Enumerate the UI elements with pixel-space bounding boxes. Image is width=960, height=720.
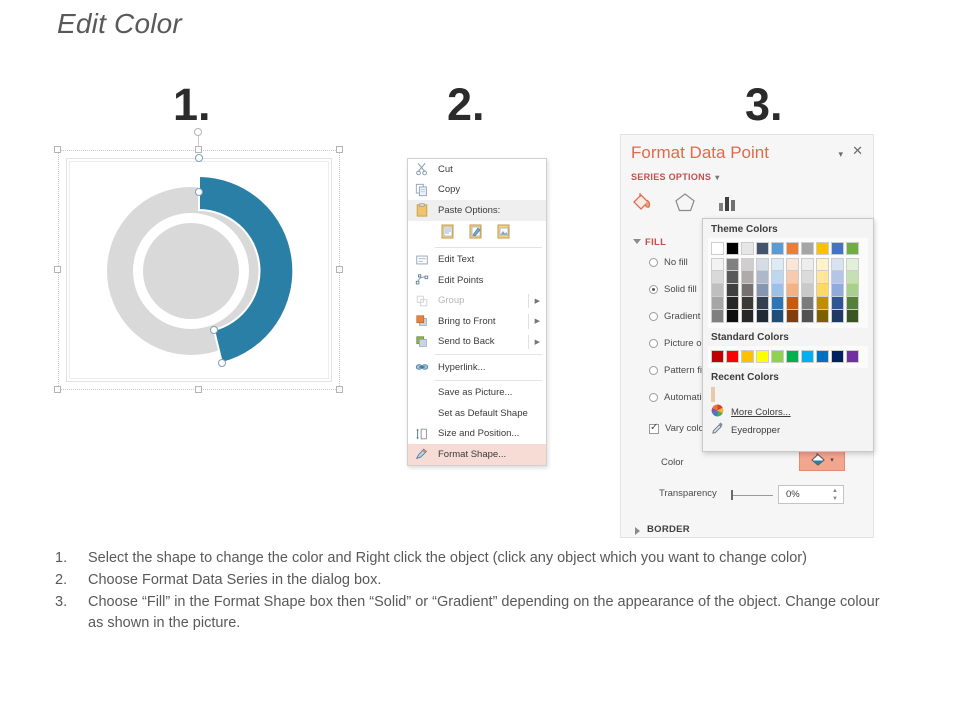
swatch[interactable]	[846, 284, 859, 297]
swatch[interactable]	[831, 310, 844, 323]
swatch-standard-7[interactable]	[816, 350, 829, 363]
swatch[interactable]	[711, 310, 724, 323]
theme-variant-col-1[interactable]	[726, 258, 739, 323]
resize-handle-se[interactable]	[336, 386, 343, 393]
radio-indicator	[649, 339, 658, 348]
radio-indicator	[649, 312, 658, 321]
menu-item-send-to-back[interactable]: Send to Back ▶	[408, 332, 546, 353]
swatch[interactable]	[801, 258, 814, 271]
edit-points-icon	[415, 273, 429, 287]
swatch[interactable]	[756, 284, 769, 297]
menu-item-group[interactable]: Group ▶	[408, 291, 546, 312]
bring-front-icon	[415, 314, 429, 328]
segment-handle-bottom-outer[interactable]	[218, 359, 226, 367]
swatch-standard-3[interactable]	[756, 350, 769, 363]
size-position-icon	[415, 427, 429, 441]
fill-bucket-icon	[810, 451, 828, 470]
submenu-divider	[528, 314, 529, 329]
theme-variant-col-2[interactable]	[741, 258, 754, 323]
swatch[interactable]	[711, 297, 724, 310]
swatch-standard-4[interactable]	[771, 350, 784, 363]
swatch-theme-base-8[interactable]	[831, 242, 844, 255]
menu-item-cut[interactable]: Cut	[408, 159, 546, 180]
swatch[interactable]	[711, 284, 724, 297]
resize-handle-n[interactable]	[195, 146, 202, 153]
theme-variant-col-5[interactable]	[786, 258, 799, 323]
swatch-theme-base-3[interactable]	[756, 242, 769, 255]
swatch[interactable]	[846, 258, 859, 271]
menu-item-save-as-picture[interactable]: Save as Picture...	[408, 383, 546, 404]
menu-item-copy[interactable]: Copy	[408, 180, 546, 201]
theme-variants-grid[interactable]	[711, 258, 865, 323]
instruction-item: 2. Choose Format Data Series in the dial…	[55, 570, 885, 591]
eyedropper-item[interactable]: Eyedropper	[703, 421, 873, 439]
resize-handle-sw[interactable]	[54, 386, 61, 393]
swatch[interactable]	[741, 310, 754, 323]
theme-variant-col-4[interactable]	[771, 258, 784, 323]
transparency-value: 0%	[786, 489, 800, 500]
radio-solid-fill[interactable]: Solid fill	[649, 284, 697, 295]
swatch[interactable]	[846, 271, 859, 284]
swatch[interactable]	[756, 310, 769, 323]
chevron-right-icon: ▶	[535, 338, 540, 346]
eyedropper-icon	[711, 422, 724, 438]
border-section-label: BORDER	[647, 524, 690, 535]
standard-colors-label: Standard Colors	[703, 328, 873, 346]
submenu-divider	[528, 335, 529, 350]
menu-item-label: Edit Points	[438, 275, 483, 286]
menu-item-label: Edit Text	[438, 254, 474, 265]
series-options-label: SERIES OPTIONS	[631, 172, 711, 182]
doughnut-chart[interactable]	[86, 158, 312, 384]
swatch-theme-base-6[interactable]	[801, 242, 814, 255]
swatch[interactable]	[726, 271, 739, 284]
chevron-right-icon: ▶	[535, 297, 540, 305]
edit-text-icon	[415, 253, 429, 267]
step-number-2: 2.	[447, 82, 485, 127]
swatch[interactable]	[816, 310, 829, 323]
more-colors-label: More Colors...	[731, 407, 791, 418]
paste-options-row[interactable]	[408, 221, 546, 245]
pane-title: Format Data Point	[631, 143, 769, 163]
chevron-right-icon: ▶	[535, 317, 540, 325]
swatch[interactable]	[771, 258, 784, 271]
page-title: Edit Color	[57, 8, 182, 40]
paste-picture-icon[interactable]	[496, 223, 512, 240]
theme-variant-col-6[interactable]	[801, 258, 814, 323]
radio-label: Solid fill	[664, 284, 697, 295]
menu-item-hyperlink[interactable]: Hyperlink...	[408, 357, 546, 378]
swatch[interactable]	[816, 297, 829, 310]
instructions-list: 1. Select the shape to change the color …	[55, 548, 885, 635]
swatch[interactable]	[726, 258, 739, 271]
swatch[interactable]	[756, 258, 769, 271]
close-icon[interactable]: ✕	[852, 144, 863, 157]
radio-pattern-fill[interactable]: Pattern fill	[649, 365, 706, 376]
transparency-slider-knob[interactable]	[731, 490, 733, 500]
radio-label: No fill	[664, 257, 688, 268]
swatch[interactable]	[786, 284, 799, 297]
resize-handle-s[interactable]	[195, 386, 202, 393]
swatch-standard-0[interactable]	[711, 350, 724, 363]
fill-color-button[interactable]: ▾	[799, 449, 845, 471]
swatch[interactable]	[726, 284, 739, 297]
swatch-standard-8[interactable]	[831, 350, 844, 363]
instruction-item: 1. Select the shape to change the color …	[55, 548, 885, 569]
transparency-label: Transparency	[659, 488, 717, 499]
theme-variant-col-7[interactable]	[816, 258, 829, 323]
fill-section-expand-icon[interactable]	[633, 239, 641, 244]
menu-separator-2	[435, 354, 542, 355]
chart-inner-disc	[143, 223, 239, 319]
step-number-3: 3.	[745, 82, 783, 127]
menu-item-label: Save as Picture...	[438, 387, 512, 398]
segment-handle-bottom-inner[interactable]	[210, 326, 218, 334]
theme-variant-col-8[interactable]	[831, 258, 844, 323]
rotate-handle[interactable]	[194, 128, 202, 136]
spinner-up-icon[interactable]: ▲	[832, 488, 838, 494]
more-colors-item[interactable]: More Colors...	[703, 403, 873, 421]
swatch[interactable]	[816, 258, 829, 271]
transparency-input[interactable]: 0% ▲ ▼	[778, 485, 844, 504]
swatch[interactable]	[846, 310, 859, 323]
send-back-icon	[415, 335, 429, 349]
paste-keep-formatting-icon[interactable]	[440, 223, 456, 240]
spinner-arrows[interactable]: ▲ ▼	[832, 488, 838, 502]
format-shape-icon	[415, 447, 429, 461]
menu-item-label: Bring to Front	[438, 316, 496, 327]
group-icon	[415, 294, 429, 308]
swatch-theme-base-4[interactable]	[771, 242, 784, 255]
swatch[interactable]	[741, 297, 754, 310]
color-picker-dropdown[interactable]: Theme Colors	[702, 218, 874, 452]
radio-indicator	[649, 366, 658, 375]
resize-handle-e[interactable]	[336, 266, 343, 273]
menu-item-label: Set as Default Shape	[438, 408, 528, 419]
swatch-theme-base-5[interactable]	[786, 242, 799, 255]
swatch[interactable]	[786, 297, 799, 310]
theme-variant-col-3[interactable]	[756, 258, 769, 323]
radio-no-fill[interactable]: No fill	[649, 257, 688, 268]
instruction-number: 1.	[55, 548, 88, 569]
swatch[interactable]	[786, 310, 799, 323]
swatch[interactable]	[816, 271, 829, 284]
radio-indicator	[649, 285, 658, 294]
swatch-theme-base-7[interactable]	[816, 242, 829, 255]
recent-colors-row[interactable]	[703, 386, 873, 403]
swatch-standard-9[interactable]	[846, 350, 859, 363]
swatch[interactable]	[831, 284, 844, 297]
swatch[interactable]	[801, 271, 814, 284]
spinner-down-icon[interactable]: ▼	[832, 496, 838, 502]
radio-indicator	[649, 393, 658, 402]
swatch[interactable]	[726, 297, 739, 310]
instruction-text: Choose Format Data Series in the dialog …	[88, 570, 885, 591]
menu-item-label: Copy	[438, 184, 460, 195]
menu-item-label: Group	[438, 295, 464, 306]
radio-label: Pattern fill	[664, 365, 706, 376]
pentagon-icon[interactable]	[673, 191, 697, 213]
swatch[interactable]	[846, 297, 859, 310]
transparency-slider-track[interactable]	[733, 495, 773, 496]
instruction-text: Select the shape to change the color and…	[88, 548, 885, 569]
menu-item-set-as-default-shape[interactable]: Set as Default Shape	[408, 403, 546, 424]
chart-selection-panel[interactable]	[58, 150, 340, 390]
theme-variant-col-0[interactable]	[711, 258, 724, 323]
swatch[interactable]	[711, 258, 724, 271]
scissors-icon	[415, 162, 429, 176]
swatch[interactable]	[786, 258, 799, 271]
series-options-dropdown[interactable]: SERIES OPTIONS▾	[631, 172, 720, 182]
swatch[interactable]	[831, 271, 844, 284]
paste-icon	[415, 203, 429, 217]
theme-colors-grid[interactable]	[708, 238, 868, 328]
fill-section-label: FILL	[645, 237, 666, 248]
color-label: Color	[661, 457, 684, 468]
menu-item-label: Size and Position...	[438, 428, 519, 439]
menu-item-label: Paste Options:	[438, 205, 500, 216]
menu-item-bring-to-front[interactable]: Bring to Front ▶	[408, 311, 546, 332]
chevron-down-icon: ▾	[715, 173, 719, 182]
swatch[interactable]	[741, 271, 754, 284]
pane-dropdown-caret-icon[interactable]: ▾	[838, 149, 843, 160]
instruction-number: 3.	[55, 592, 88, 634]
menu-item-edit-text[interactable]: Edit Text	[408, 250, 546, 271]
context-menu[interactable]: Cut Copy Paste Options:	[407, 158, 547, 466]
menu-separator-3	[435, 380, 542, 381]
swatch[interactable]	[756, 297, 769, 310]
standard-colors-row[interactable]	[708, 346, 868, 368]
radio-automatic-fill[interactable]: Automatic	[649, 392, 706, 403]
eyedropper-label: Eyedropper	[731, 425, 780, 436]
swatch-theme-base-1[interactable]	[726, 242, 739, 255]
menu-item-format-shape[interactable]: Format Shape...	[408, 444, 546, 465]
swatch[interactable]	[771, 297, 784, 310]
menu-item-label: Send to Back	[438, 336, 495, 347]
swatch[interactable]	[741, 258, 754, 271]
swatch[interactable]	[726, 310, 739, 323]
menu-separator-1	[435, 247, 542, 248]
recent-colors-label: Recent Colors	[703, 368, 873, 386]
radio-label: Automatic	[664, 392, 706, 403]
hyperlink-icon	[415, 360, 429, 374]
segment-handle-top-outer[interactable]	[195, 154, 203, 162]
color-wheel-icon	[711, 404, 724, 420]
pane-tab-strip[interactable]	[631, 191, 739, 213]
menu-item-size-and-position[interactable]: Size and Position...	[408, 424, 546, 445]
border-section-expand-icon[interactable]	[635, 527, 640, 535]
menu-item-label: Cut	[438, 164, 453, 175]
swatch[interactable]	[801, 310, 814, 323]
instruction-text: Choose “Fill” in the Format Shape box th…	[88, 592, 885, 634]
radio-indicator	[649, 258, 658, 267]
menu-item-label: Format Shape...	[438, 449, 506, 460]
swatch[interactable]	[771, 271, 784, 284]
copy-icon	[415, 183, 429, 197]
resize-handle-nw[interactable]	[54, 146, 61, 153]
swatch[interactable]	[801, 297, 814, 310]
swatch[interactable]	[786, 271, 799, 284]
bar-chart-icon[interactable]	[715, 191, 739, 213]
fill-color-caret-icon: ▾	[830, 456, 834, 464]
swatch[interactable]	[831, 297, 844, 310]
swatch-standard-6[interactable]	[801, 350, 814, 363]
step-number-1: 1.	[173, 82, 211, 127]
instruction-item: 3. Choose “Fill” in the Format Shape box…	[55, 592, 885, 634]
resize-handle-w[interactable]	[54, 266, 61, 273]
swatch-standard-1[interactable]	[726, 350, 739, 363]
swatch[interactable]	[741, 284, 754, 297]
submenu-divider	[528, 294, 529, 309]
menu-item-paste-options[interactable]: Paste Options:	[408, 200, 546, 221]
swatch[interactable]	[711, 271, 724, 284]
theme-colors-label: Theme Colors	[703, 219, 873, 238]
swatch[interactable]	[756, 271, 769, 284]
swatch[interactable]	[816, 284, 829, 297]
paste-merge-formatting-icon[interactable]	[468, 223, 484, 240]
swatch-recent-0[interactable]	[711, 387, 715, 402]
segment-handle-top-inner[interactable]	[195, 188, 203, 196]
swatch-theme-base-9[interactable]	[846, 242, 859, 255]
swatch-theme-base-0[interactable]	[711, 242, 724, 255]
swatch-standard-5[interactable]	[786, 350, 799, 363]
paint-bucket-icon[interactable]	[631, 191, 655, 213]
theme-base-row[interactable]	[711, 242, 865, 255]
theme-variant-col-9[interactable]	[846, 258, 859, 323]
checkbox-indicator	[649, 424, 659, 434]
swatch[interactable]	[771, 284, 784, 297]
swatch[interactable]	[801, 284, 814, 297]
menu-item-edit-points[interactable]: Edit Points	[408, 270, 546, 291]
swatch-standard-2[interactable]	[741, 350, 754, 363]
resize-handle-ne[interactable]	[336, 146, 343, 153]
swatch-theme-base-2[interactable]	[741, 242, 754, 255]
swatch[interactable]	[831, 258, 844, 271]
swatch[interactable]	[771, 310, 784, 323]
instruction-number: 2.	[55, 570, 88, 591]
menu-item-label: Hyperlink...	[438, 362, 486, 373]
